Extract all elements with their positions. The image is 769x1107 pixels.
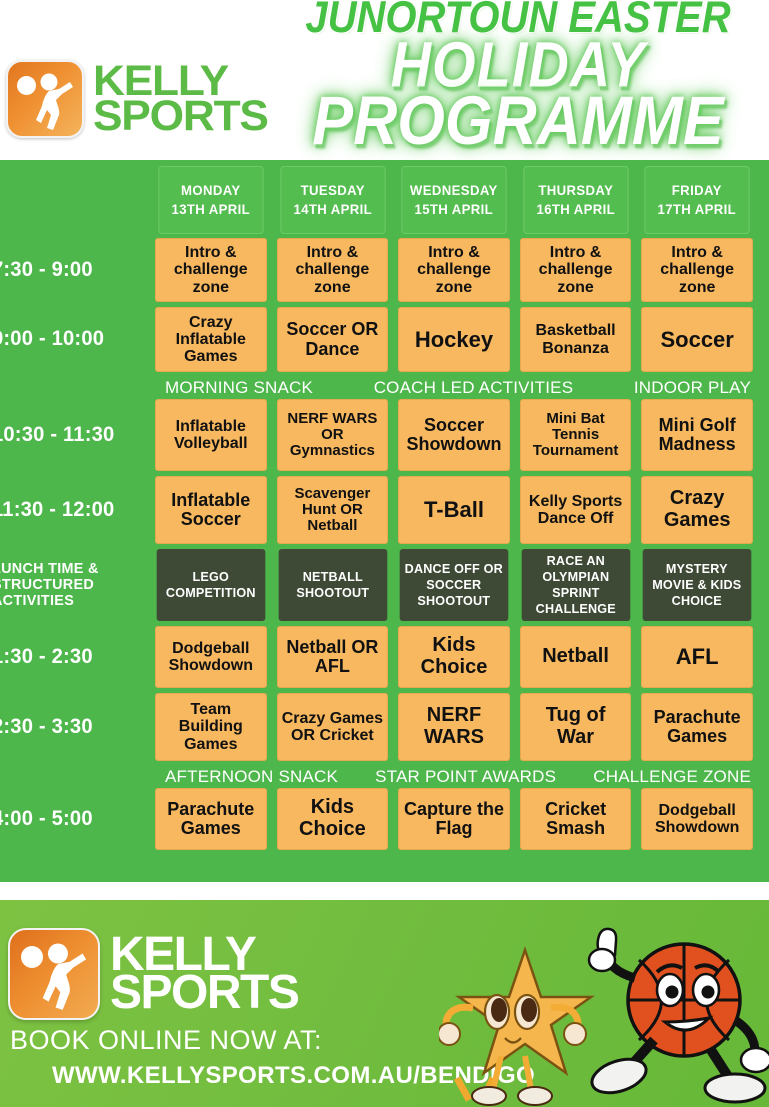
activity-cell: RACE AN OLYMPIAN SPRINT CHALLENGE <box>521 549 629 621</box>
activity-cell-wrap: Scavenger Hunt OR Netball <box>277 476 389 544</box>
schedule-row: 7:30 - 9:00Intro & challenge zoneIntro &… <box>0 238 753 302</box>
activity-cell: NERF WARS OR Gymnastics <box>277 399 389 471</box>
activity-cell: Capture the Flag <box>398 788 510 850</box>
activity-cell-wrap: LEGO COMPETITION <box>155 549 267 621</box>
day-date: 14TH APRIL <box>293 200 372 219</box>
schedule-row: 1:30 - 2:30Dodgeball ShowdownNetball OR … <box>0 626 753 688</box>
activity-cell: Hockey <box>398 307 510 372</box>
activity-cell: Inflatable Soccer <box>155 476 267 544</box>
activity-cell-wrap: Kids Choice <box>277 788 389 850</box>
day-date: 16TH APRIL <box>536 200 615 219</box>
time-label: 7:30 - 9:00 <box>0 238 148 302</box>
schedule-row: LUNCH TIME & STRUCTURED ACTIVITIESLEGO C… <box>0 549 753 621</box>
day-name: MONDAY <box>181 181 241 200</box>
activity-cell: Kids Choice <box>398 626 510 688</box>
schedule-row: 9:00 - 10:00Crazy Inflatable GamesSoccer… <box>0 307 753 372</box>
corner-cell <box>0 166 148 234</box>
activity-cell: Tug of War <box>520 693 632 761</box>
activity-cell: Parachute Games <box>155 788 267 850</box>
activity-cell: Crazy Inflatable Games <box>155 307 267 372</box>
activity-cell-wrap: Soccer <box>641 307 753 372</box>
activity-cell: Soccer OR Dance <box>277 307 389 372</box>
activity-cell-wrap: Netball OR AFL <box>277 626 389 688</box>
activity-cell-wrap: Parachute Games <box>155 788 267 850</box>
band-label-left: AFTERNOON SNACK <box>165 767 338 787</box>
time-label: 10:30 - 11:30 <box>0 399 148 471</box>
activity-cell: Soccer Showdown <box>398 399 510 471</box>
schedule-row: 2:30 - 3:30Team Building GamesCrazy Game… <box>0 693 753 761</box>
day-name: THURSDAY <box>538 181 613 200</box>
day-name: FRIDAY <box>672 181 722 200</box>
activity-cell-wrap: Inflatable Volleyball <box>155 399 267 471</box>
activity-cell: Intro & challenge zone <box>641 238 753 302</box>
activity-cell: Intro & challenge zone <box>155 238 267 302</box>
poster-page: KELLY SPORTS JUNORTOUN EASTER HOLIDAY PR… <box>0 0 769 1107</box>
time-label: 9:00 - 10:00 <box>0 307 148 372</box>
poster-header: KELLY SPORTS JUNORTOUN EASTER HOLIDAY PR… <box>0 0 769 160</box>
poster-footer: KELLY SPORTS BOOK ONLINE NOW AT: WWW.KEL… <box>0 900 769 1107</box>
activity-cell: Dodgeball Showdown <box>641 788 753 850</box>
day-date: 13TH APRIL <box>171 200 250 219</box>
footer-logo-text-sports: SPORTS <box>110 974 298 1012</box>
band-text: AFTERNOON SNACKSTAR POINT AWARDSCHALLENG… <box>163 767 753 787</box>
schedule-grid: MONDAY13TH APRILTUESDAY14TH APRILWEDNESD… <box>0 166 753 874</box>
activity-cell-wrap: Kelly Sports Dance Off <box>520 476 632 544</box>
activity-cell-wrap: DANCE OFF OR SOCCER SHOOTOUT <box>398 549 510 621</box>
activity-cell-wrap: Crazy Games OR Cricket <box>277 693 389 761</box>
time-label: 1:30 - 2:30 <box>0 626 148 688</box>
mascot-illustrations <box>439 900 769 1107</box>
activity-cell-wrap: Basketball Bonanza <box>520 307 632 372</box>
day-name: WEDNESDAY <box>410 181 498 200</box>
activity-cell: LEGO COMPETITION <box>157 549 265 621</box>
activity-cell: Inflatable Volleyball <box>155 399 267 471</box>
activity-cell: T-Ball <box>398 476 510 544</box>
activity-cell: Team Building Games <box>155 693 267 761</box>
schedule-row: 4:00 - 5:00Parachute GamesKids ChoiceCap… <box>0 788 753 850</box>
band-label-middle: STAR POINT AWARDS <box>375 767 556 787</box>
kelly-sports-logo-footer: KELLY SPORTS <box>8 928 298 1020</box>
activity-cell: Basketball Bonanza <box>520 307 632 372</box>
activity-cell: Cricket Smash <box>520 788 632 850</box>
day-header-wednesday: WEDNESDAY15TH APRIL <box>402 166 507 234</box>
activity-cell: AFL <box>641 626 753 688</box>
activity-cell: Intro & challenge zone <box>520 238 632 302</box>
day-header-friday: FRIDAY17TH APRIL <box>645 166 750 234</box>
time-label: LUNCH TIME & STRUCTURED ACTIVITIES <box>0 549 148 621</box>
activity-cell: Soccer <box>641 307 753 372</box>
activity-cell-wrap: Soccer OR Dance <box>277 307 389 372</box>
day-date: 15TH APRIL <box>415 200 494 219</box>
day-header-thursday: THURSDAY16TH APRIL <box>523 166 628 234</box>
schedule-row: 11:30 - 12:00Inflatable SoccerScavenger … <box>0 476 753 544</box>
activity-cell-wrap: Intro & challenge zone <box>398 238 510 302</box>
activity-cell: Mini Golf Madness <box>641 399 753 471</box>
activity-cell: DANCE OFF OR SOCCER SHOOTOUT <box>400 549 508 621</box>
activity-cell-wrap: Parachute Games <box>641 693 753 761</box>
activity-cell-wrap: NERF WARS OR Gymnastics <box>277 399 389 471</box>
activity-cell: Netball <box>520 626 632 688</box>
activity-cell-wrap: Hockey <box>398 307 510 372</box>
activity-cell-wrap: Dodgeball Showdown <box>155 626 267 688</box>
activity-cell: Mini Bat Tennis Tournament <box>520 399 632 471</box>
afternoon-break-band: AFTERNOON SNACKSTAR POINT AWARDSCHALLENG… <box>0 766 753 788</box>
activity-cell-wrap: T-Ball <box>398 476 510 544</box>
morning-break-band: MORNING SNACKCOACH LED ACTIVITIESINDOOR … <box>0 377 753 399</box>
poster-title: JUNORTOUN EASTER HOLIDAY PROGRAMME <box>283 0 753 144</box>
activity-cell-wrap: Inflatable Soccer <box>155 476 267 544</box>
activity-cell-wrap: MYSTERY MOVIE & KIDS CHOICE <box>641 549 753 621</box>
day-header-tuesday: TUESDAY14TH APRIL <box>280 166 385 234</box>
activity-cell: NERF WARS <box>398 693 510 761</box>
kelly-sports-badge-icon-footer <box>8 928 100 1020</box>
activity-cell-wrap: Intro & challenge zone <box>641 238 753 302</box>
activity-cell: Scavenger Hunt OR Netball <box>277 476 389 544</box>
activity-cell-wrap: AFL <box>641 626 753 688</box>
band-label-left: MORNING SNACK <box>165 378 313 398</box>
schedule-header-row: MONDAY13TH APRILTUESDAY14TH APRILWEDNESD… <box>0 166 753 234</box>
activity-cell-wrap: Mini Bat Tennis Tournament <box>520 399 632 471</box>
title-line-programme: PROGRAMME <box>278 90 757 152</box>
band-label-middle: COACH LED ACTIVITIES <box>374 378 574 398</box>
activity-cell-wrap: Cricket Smash <box>520 788 632 850</box>
kelly-sports-logo-header: KELLY SPORTS <box>6 60 263 138</box>
activity-cell: MYSTERY MOVIE & KIDS CHOICE <box>643 549 751 621</box>
time-label: 11:30 - 12:00 <box>0 476 148 544</box>
day-name: TUESDAY <box>300 181 364 200</box>
activity-cell-wrap: Team Building Games <box>155 693 267 761</box>
time-label: 4:00 - 5:00 <box>0 788 148 850</box>
activity-cell-wrap: Dodgeball Showdown <box>641 788 753 850</box>
activity-cell: Intro & challenge zone <box>398 238 510 302</box>
mascot-svg <box>439 900 769 1107</box>
star-mascot-icon <box>439 950 591 1105</box>
book-online-label: BOOK ONLINE NOW AT: <box>10 1025 322 1056</box>
activity-cell-wrap: Tug of War <box>520 693 632 761</box>
schedule-table: MONDAY13TH APRILTUESDAY14TH APRILWEDNESD… <box>0 160 769 882</box>
activity-cell-wrap: Crazy Inflatable Games <box>155 307 267 372</box>
running-figure-icon <box>32 70 78 134</box>
activity-cell-wrap: Intro & challenge zone <box>155 238 267 302</box>
running-figure-icon-footer <box>38 939 92 1015</box>
activity-cell: Netball OR AFL <box>277 626 389 688</box>
activity-cell: Parachute Games <box>641 693 753 761</box>
activity-cell-wrap: Mini Golf Madness <box>641 399 753 471</box>
activity-cell: Kelly Sports Dance Off <box>520 476 632 544</box>
logo-text-sports: SPORTS <box>93 99 268 134</box>
band-label-right: INDOOR PLAY <box>634 378 751 398</box>
activity-cell-wrap: Crazy Games <box>641 476 753 544</box>
activity-cell: Intro & challenge zone <box>277 238 389 302</box>
day-date: 17TH APRIL <box>658 200 737 219</box>
activity-cell-wrap: NERF WARS <box>398 693 510 761</box>
activity-cell-wrap: Capture the Flag <box>398 788 510 850</box>
band-text: MORNING SNACKCOACH LED ACTIVITIESINDOOR … <box>163 378 753 398</box>
activity-cell-wrap: Intro & challenge zone <box>520 238 632 302</box>
band-label-right: CHALLENGE ZONE <box>593 767 751 787</box>
activity-cell-wrap: NETBALL SHOOTOUT <box>277 549 389 621</box>
activity-cell: NETBALL SHOOTOUT <box>278 549 386 621</box>
activity-cell: Dodgeball Showdown <box>155 626 267 688</box>
activity-cell: Crazy Games OR Cricket <box>277 693 389 761</box>
basketball-mascot-icon <box>588 929 769 1102</box>
schedule-row: 10:30 - 11:30Inflatable VolleyballNERF W… <box>0 399 753 471</box>
activity-cell-wrap: Kids Choice <box>398 626 510 688</box>
kelly-sports-badge-icon <box>6 60 84 138</box>
activity-cell-wrap: Intro & challenge zone <box>277 238 389 302</box>
time-label: 2:30 - 3:30 <box>0 693 148 761</box>
activity-cell: Crazy Games <box>641 476 753 544</box>
day-header-monday: MONDAY13TH APRIL <box>158 166 263 234</box>
activity-cell: Kids Choice <box>277 788 389 850</box>
activity-cell-wrap: Netball <box>520 626 632 688</box>
activity-cell-wrap: RACE AN OLYMPIAN SPRINT CHALLENGE <box>520 549 632 621</box>
activity-cell-wrap: Soccer Showdown <box>398 399 510 471</box>
